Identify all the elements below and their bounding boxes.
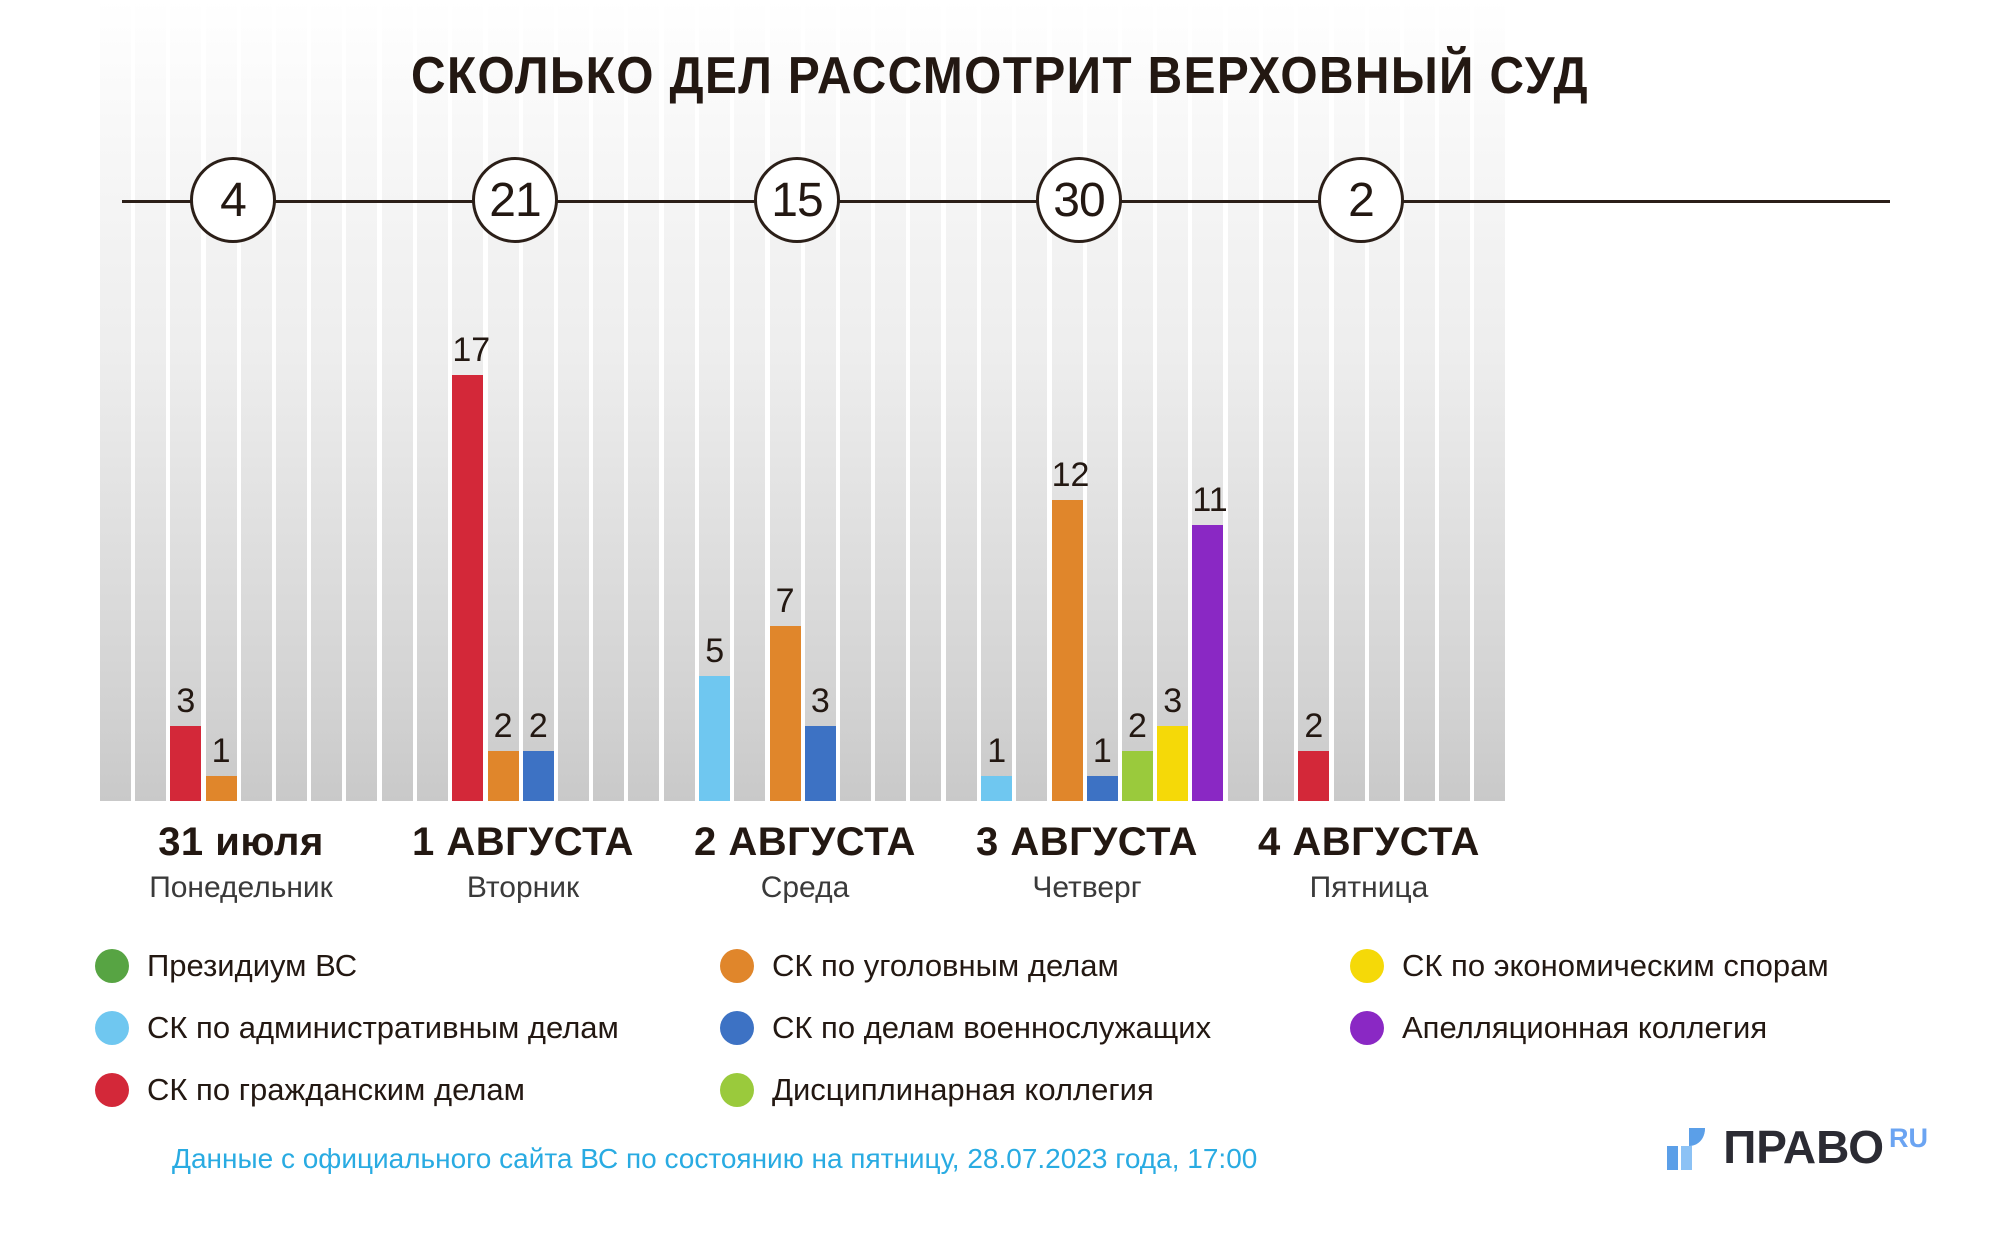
- legend-label: СК по экономическим спорам: [1402, 948, 1829, 984]
- day-label-group: 4 АВГУСТАПятница: [1228, 820, 1510, 905]
- infographic-page: СКОЛЬКО ДЕЛ РАССМОТРИТ ВЕРХОВНЫЙ СУД 421…: [0, 0, 2000, 1239]
- legend-color-dot: [720, 949, 754, 983]
- day-weekday: Четверг: [946, 871, 1228, 905]
- bar-value-label: 3: [170, 684, 201, 718]
- bar-value-label: 3: [1157, 684, 1188, 718]
- legend-item[interactable]: СК по гражданским делам: [95, 1062, 619, 1118]
- legend-color-dot: [95, 949, 129, 983]
- day-weekday: Вторник: [382, 871, 664, 905]
- chart-bar: 11: [1192, 525, 1223, 801]
- pravo-logo-mark: [1659, 1124, 1711, 1179]
- chart-bar: 2: [1122, 751, 1153, 801]
- source-note: Данные с официального сайта ВС по состоя…: [172, 1143, 1257, 1175]
- legend-color-dot: [1350, 949, 1384, 983]
- legend-color-dot: [1350, 1011, 1384, 1045]
- legend-item[interactable]: Дисциплинарная коллегия: [720, 1062, 1211, 1118]
- day-date: 31 июля: [100, 820, 382, 865]
- day-date: 3 АВГУСТА: [946, 820, 1228, 865]
- legend-label: СК по гражданским делам: [147, 1072, 525, 1108]
- legend-label: СК по делам военнослужащих: [772, 1010, 1211, 1046]
- day-label-group: 31 июляПонедельник: [100, 820, 382, 905]
- legend-label: Дисциплинарная коллегия: [772, 1072, 1154, 1108]
- legend-item[interactable]: СК по административным делам: [95, 1000, 619, 1056]
- bar-value-label: 2: [488, 709, 519, 743]
- chart-bar: 1: [1087, 776, 1118, 801]
- bar-value-label: 1: [206, 734, 237, 768]
- chart-bar: 12: [1052, 500, 1083, 801]
- legend-color-dot: [95, 1073, 129, 1107]
- chart-bar: 2: [523, 751, 554, 801]
- logo-wordmark: ПРАВО: [1723, 1124, 1884, 1170]
- bar-value-label: 2: [1298, 709, 1329, 743]
- chart-bar: 3: [1157, 726, 1188, 801]
- bar-value-label: 12: [1052, 458, 1083, 492]
- chart-bar: 1: [981, 776, 1012, 801]
- bar-value-label: 2: [1122, 709, 1153, 743]
- legend-label: СК по уголовным делам: [772, 948, 1119, 984]
- chart-bar: 7: [770, 626, 801, 801]
- pravo-ru-logo[interactable]: ПРАВО RU: [1659, 1124, 1928, 1179]
- bar-value-label: 7: [770, 584, 801, 618]
- legend-item[interactable]: СК по экономическим спорам: [1350, 938, 1829, 994]
- bar-value-label: 1: [981, 734, 1012, 768]
- chart-bar: 5: [699, 676, 730, 801]
- bar-value-label: 17: [452, 333, 483, 367]
- day-weekday: Пятница: [1228, 871, 1510, 905]
- chart-bar: 17: [452, 375, 483, 801]
- legend-color-dot: [720, 1011, 754, 1045]
- chart-bar: 1: [206, 776, 237, 801]
- legend-label: Апелляционная коллегия: [1402, 1010, 1767, 1046]
- legend-color-dot: [720, 1073, 754, 1107]
- day-date: 2 АВГУСТА: [664, 820, 946, 865]
- legend-column: СК по уголовным деламСК по делам военнос…: [720, 938, 1211, 1124]
- bar-value-label: 1: [1087, 734, 1118, 768]
- day-date: 1 АВГУСТА: [382, 820, 664, 865]
- bar-value-label: 3: [805, 684, 836, 718]
- logo-suffix: RU: [1889, 1125, 1928, 1152]
- legend-column: Президиум ВССК по административным делам…: [95, 938, 619, 1124]
- day-label-group: 2 АВГУСТАСреда: [664, 820, 946, 905]
- legend-item[interactable]: Президиум ВС: [95, 938, 619, 994]
- day-label-group: 1 АВГУСТАВторник: [382, 820, 664, 905]
- chart-bar: 3: [805, 726, 836, 801]
- legend-item[interactable]: СК по делам военнослужащих: [720, 1000, 1211, 1056]
- legend-item[interactable]: Апелляционная коллегия: [1350, 1000, 1829, 1056]
- chart-bar: 2: [488, 751, 519, 801]
- bar-value-label: 5: [699, 634, 730, 668]
- day-label-group: 3 АВГУСТАЧетверг: [946, 820, 1228, 905]
- bar-value-label: 11: [1192, 483, 1223, 517]
- bar-value-label: 2: [523, 709, 554, 743]
- day-date: 4 АВГУСТА: [1228, 820, 1510, 865]
- chart-bar: 2: [1298, 751, 1329, 801]
- legend-item[interactable]: СК по уголовным делам: [720, 938, 1211, 994]
- day-weekday: Среда: [664, 871, 946, 905]
- legend-label: Президиум ВС: [147, 948, 357, 984]
- day-weekday: Понедельник: [100, 871, 382, 905]
- bar-chart-plot: 3131 июляПонедельник17221 АВГУСТАВторник…: [0, 0, 2000, 815]
- legend-color-dot: [95, 1011, 129, 1045]
- chart-bar: 3: [170, 726, 201, 801]
- legend-column: СК по экономическим спорамАпелляционная …: [1350, 938, 1829, 1062]
- legend-label: СК по административным делам: [147, 1010, 619, 1046]
